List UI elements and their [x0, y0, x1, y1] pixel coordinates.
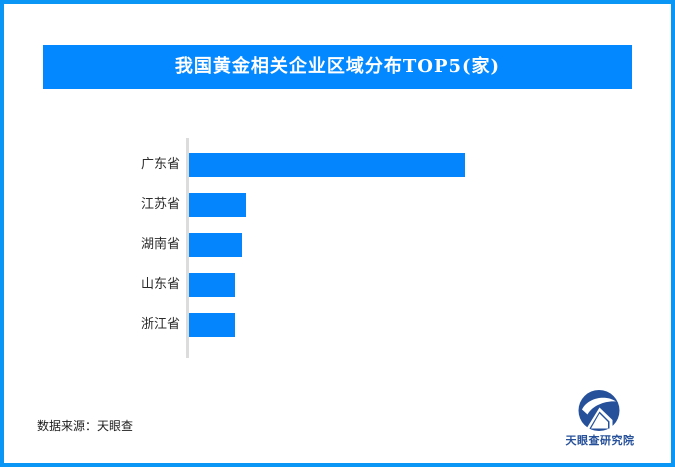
brand-logo-caption: 天眼查研究院	[554, 432, 646, 448]
bar-category-label: 江苏省	[64, 193, 180, 217]
bar-row: 广东省	[4, 153, 671, 177]
bar-row: 江苏省	[4, 193, 671, 217]
bar-fill	[189, 273, 235, 297]
bar-row: 湖南省	[4, 233, 671, 257]
bar-fill	[189, 153, 465, 177]
bar-category-label: 湖南省	[64, 233, 180, 257]
bar-row: 山东省	[4, 273, 671, 297]
tianyancha-eye-icon	[576, 390, 622, 431]
bar-fill	[189, 233, 242, 257]
data-source-note: 数据来源：天眼查	[37, 417, 133, 434]
brand-logo: 天眼查研究院	[554, 390, 646, 450]
bar-category-label: 山东省	[64, 273, 180, 297]
bar-fill	[189, 193, 246, 217]
bar-row: 浙江省	[4, 313, 671, 337]
bar-fill	[189, 313, 235, 337]
bar-chart: 广东省江苏省湖南省山东省浙江省	[4, 134, 671, 359]
title-banner: 我国黄金相关企业区域分布TOP5(家)	[43, 45, 632, 89]
bar-category-label: 浙江省	[64, 313, 180, 337]
bar-series: 广东省江苏省湖南省山东省浙江省	[4, 134, 671, 359]
bar-category-label: 广东省	[64, 153, 180, 177]
page-title: 我国黄金相关企业区域分布TOP5(家)	[175, 58, 500, 76]
infographic-poster: 我国黄金相关企业区域分布TOP5(家) 广东省江苏省湖南省山东省浙江省 数据来源…	[0, 0, 675, 467]
